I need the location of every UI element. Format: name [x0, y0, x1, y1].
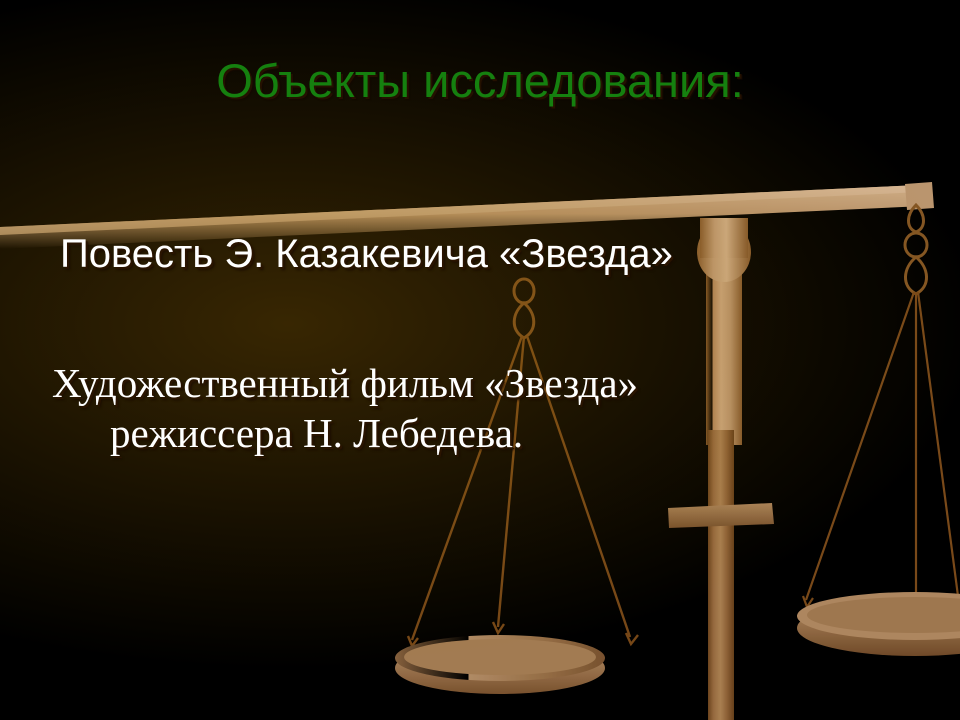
presentation-slide: Объекты исследования: Повесть Э. Казакев…: [0, 0, 960, 720]
page-title: Объекты исследования:: [0, 56, 960, 105]
body-item-film-line-1: Художественный фильм «Звезда»: [48, 358, 878, 408]
body-item-povest: Повесть Э. Казакевича «Звезда»: [48, 232, 878, 276]
slide-text-layer: Объекты исследования: Повесть Э. Казакев…: [0, 0, 960, 720]
slide-body: Повесть Э. Казакевича «Звезда» Художеств…: [48, 232, 878, 458]
body-item-film-line-2: режиссера Н. Лебедева.: [48, 408, 878, 458]
body-item-film: Художественный фильм «Звезда» режиссера …: [48, 358, 878, 458]
